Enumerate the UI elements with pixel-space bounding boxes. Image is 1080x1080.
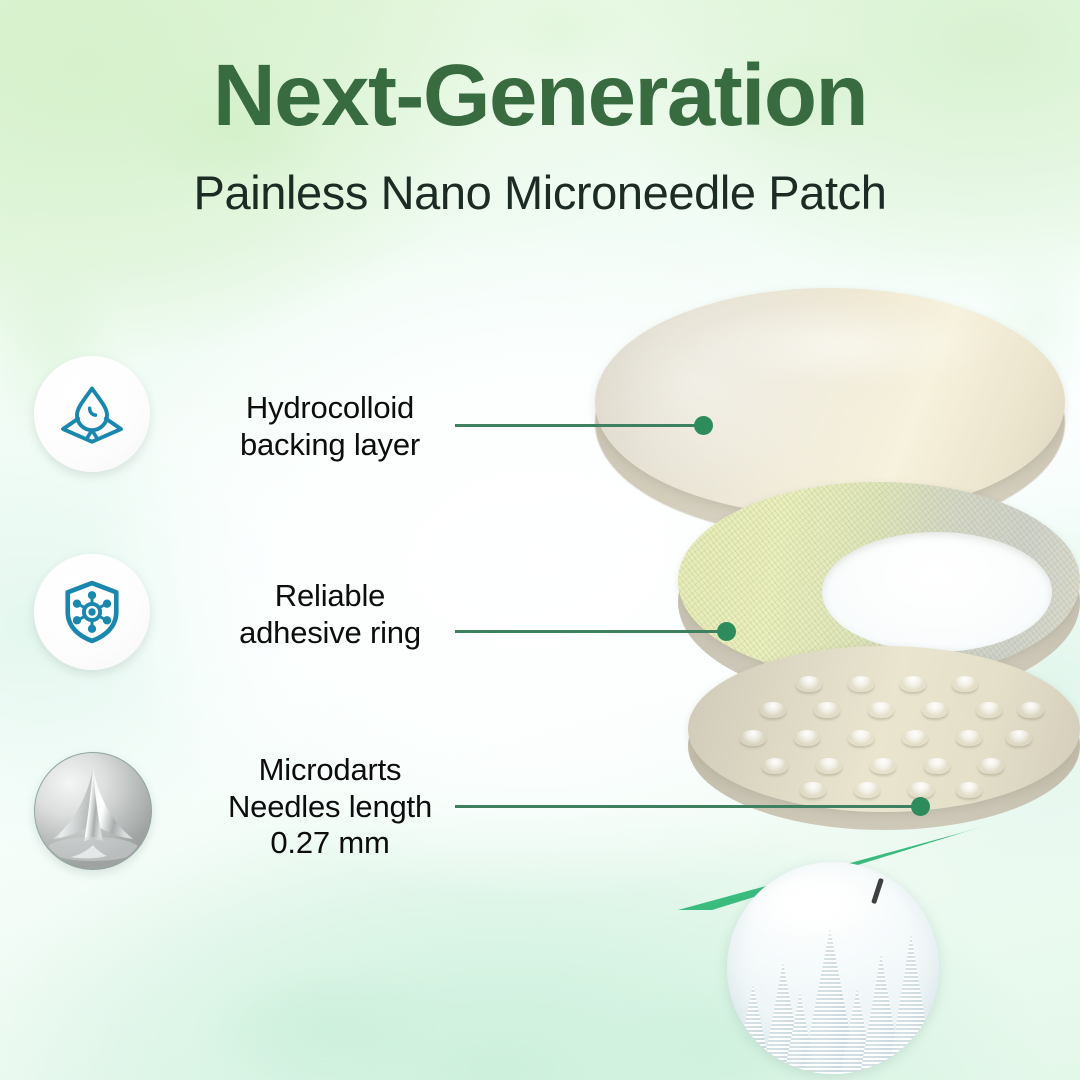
microdart — [740, 730, 766, 746]
leader-dot-adhesive-ring — [717, 622, 736, 641]
microdart — [800, 782, 826, 798]
microdart — [978, 758, 1004, 774]
feature-label-adhesive-ring: Reliable adhesive ring — [180, 578, 480, 651]
microdart — [848, 676, 874, 692]
microdart — [762, 758, 788, 774]
icon-badge-adhesive-ring[interactable] — [34, 554, 150, 670]
icon-badge-microdarts[interactable] — [34, 752, 152, 870]
feature-label-hydrocolloid: Hydrocolloid backing layer — [180, 390, 480, 463]
leader-line-microdarts — [455, 805, 920, 808]
feature-label-microdarts: Microdarts Needles length 0.27 mm — [180, 752, 480, 862]
microdart — [854, 782, 880, 798]
microdart — [908, 782, 934, 798]
patch-exploded-diagram — [560, 270, 1080, 910]
microdart — [900, 676, 926, 692]
shield-molecule-icon — [55, 575, 129, 649]
microdart — [816, 758, 842, 774]
microdart — [868, 702, 894, 718]
microdart — [760, 702, 786, 718]
microneedle-dart-icon — [35, 753, 151, 869]
leader-dot-hydrocolloid — [694, 416, 713, 435]
microdart — [1006, 730, 1032, 746]
leader-line-adhesive-ring — [455, 630, 727, 633]
microdart — [922, 702, 948, 718]
leader-line-hydrocolloid — [455, 424, 705, 427]
microdart — [924, 758, 950, 774]
microdart — [1018, 702, 1044, 718]
microdart-array — [688, 646, 1080, 812]
icon-badge-hydrocolloid[interactable] — [34, 356, 150, 472]
adhesive-ring-hole — [822, 532, 1052, 652]
microdart — [796, 676, 822, 692]
microdart — [976, 702, 1002, 718]
microdart — [848, 730, 874, 746]
page-title: Next-Generation — [0, 52, 1080, 139]
microneedle-magnified-view — [727, 862, 939, 1074]
leader-dot-microdarts — [911, 797, 930, 816]
microdart — [956, 782, 982, 798]
magnified-microneedle — [887, 934, 935, 1074]
header-block: Next-Generation Painless Nano Microneedl… — [0, 52, 1080, 220]
page-subtitle: Painless Nano Microneedle Patch — [0, 165, 1080, 220]
microdart — [870, 758, 896, 774]
product-infographic-poster: Next-Generation Painless Nano Microneedl… — [0, 0, 1080, 1080]
hydrocolloid-disc-highlight — [680, 300, 1000, 390]
water-droplet-on-layer-icon — [55, 377, 129, 451]
microdart — [952, 676, 978, 692]
microdart — [956, 730, 982, 746]
microdart — [814, 702, 840, 718]
microdart — [902, 730, 928, 746]
microdart-base-disc — [688, 646, 1080, 812]
microdart — [794, 730, 820, 746]
